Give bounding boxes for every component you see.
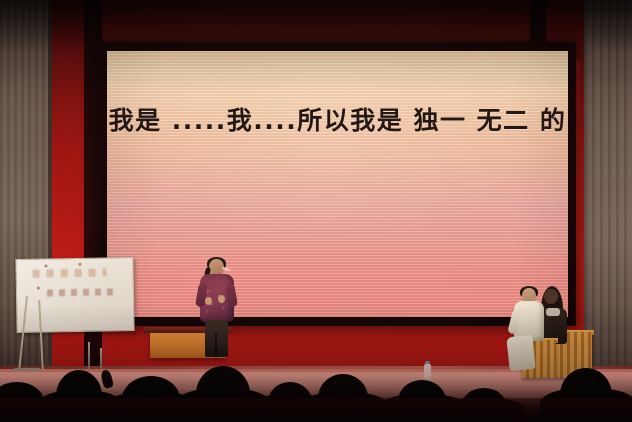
seated-right-collar bbox=[546, 308, 560, 316]
flipchart-whiteboard bbox=[15, 257, 134, 333]
stage-presentation-photo: 我是 .....我....所以我是 独一 无二 的 bbox=[0, 0, 632, 422]
flipchart-handwriting-line-2 bbox=[47, 288, 117, 296]
flipchart-magnet bbox=[37, 287, 40, 290]
flipchart-handwriting-line-1 bbox=[33, 268, 107, 277]
presenter-right-hand bbox=[218, 295, 225, 303]
foreground-shadow bbox=[0, 398, 632, 422]
flipchart-magnet bbox=[44, 264, 47, 267]
flipchart-magnet bbox=[78, 263, 81, 266]
projection-screen-frame: 我是 .....我....所以我是 独一 无二 的 bbox=[98, 42, 576, 326]
projection-screen-surface: 我是 .....我....所以我是 独一 无二 的 bbox=[107, 51, 568, 317]
seated-right-head bbox=[544, 289, 558, 304]
presenter-left-hand bbox=[205, 297, 212, 305]
slide-text: 我是 .....我....所以我是 独一 无二 的 bbox=[107, 101, 568, 137]
